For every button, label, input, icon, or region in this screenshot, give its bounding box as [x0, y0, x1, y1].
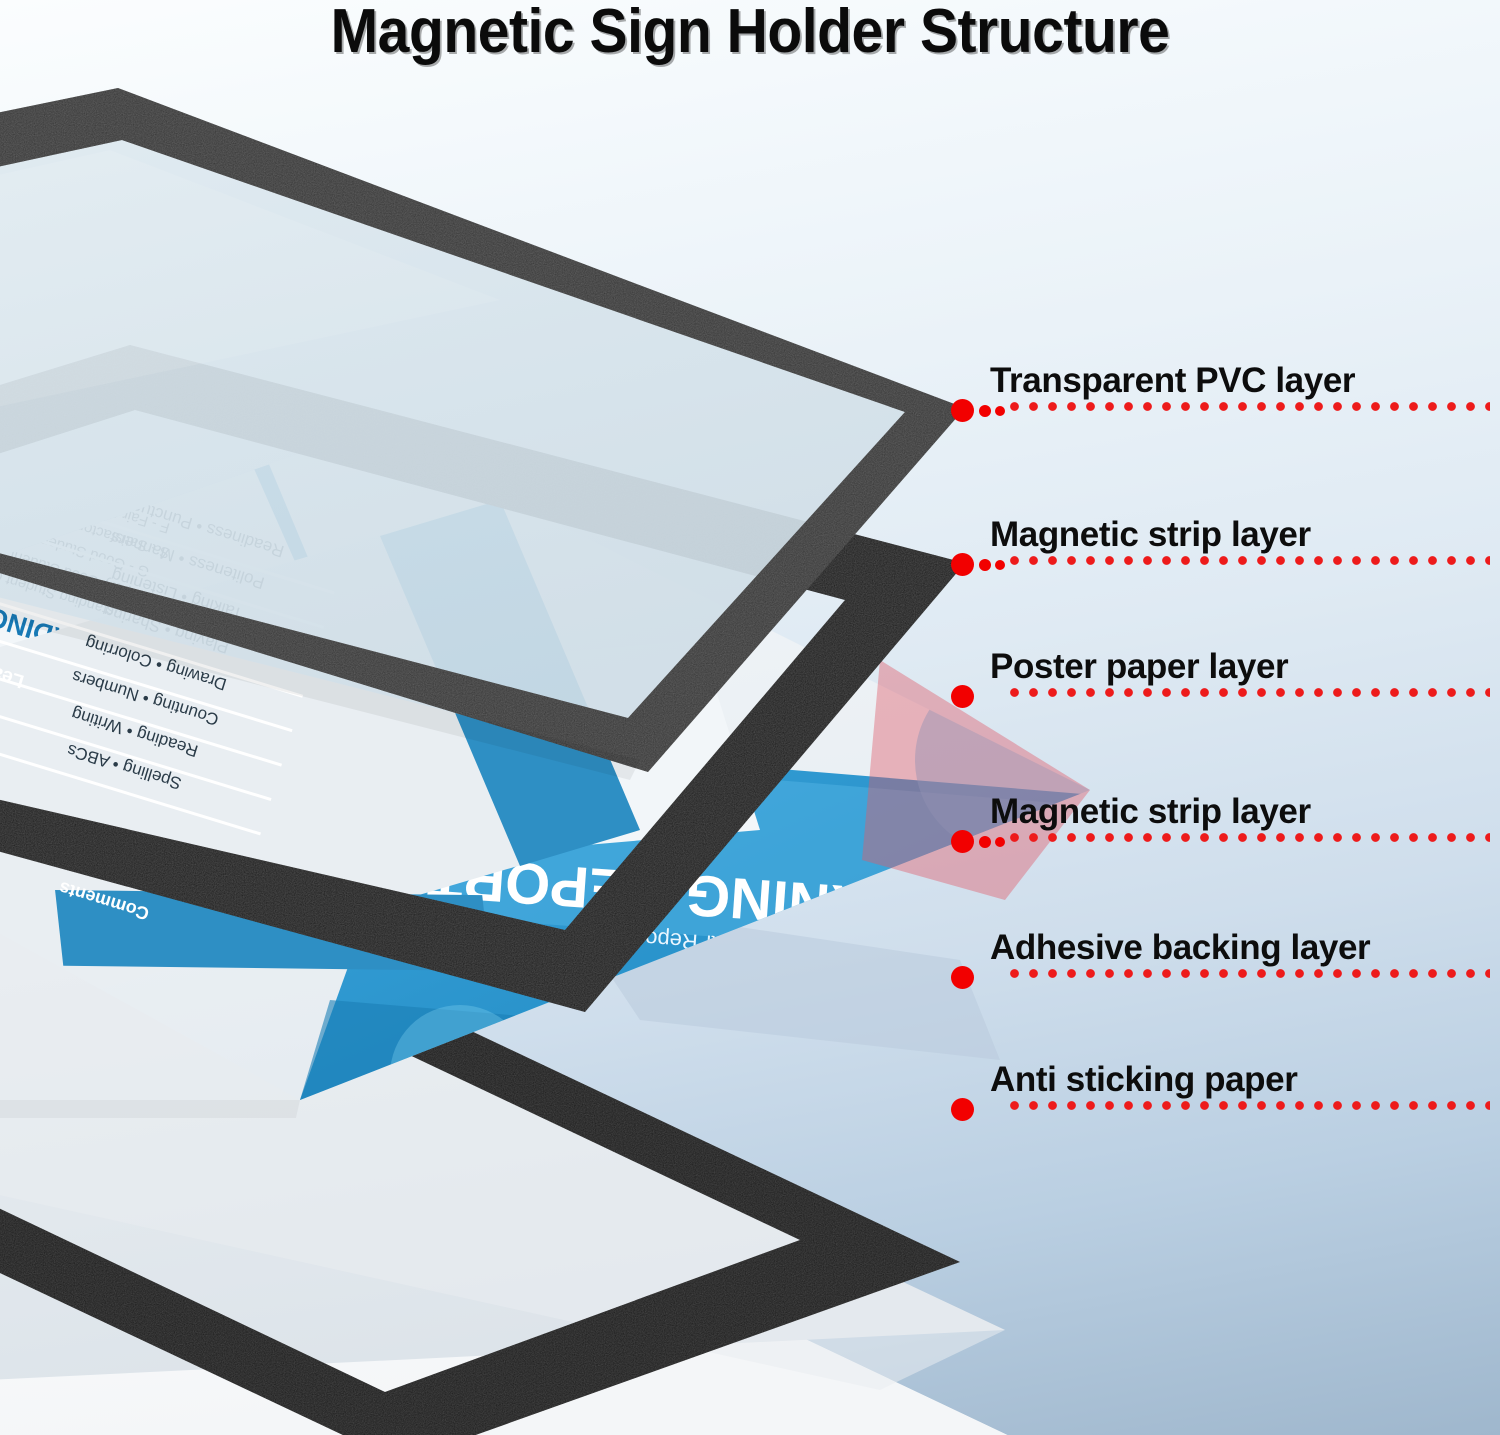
callout-dot-icon — [951, 553, 974, 576]
shadow-under-poster — [0, 1100, 300, 1118]
callout-transparent-pvc-layer: Transparent PVC layer — [965, 369, 1500, 411]
callout-dotted-leader — [1010, 1101, 1490, 1110]
callout-label: Magnetic strip layer — [990, 515, 1311, 555]
callout-dot-tiny-icon — [995, 560, 1005, 570]
callout-label: Adhesive backing layer — [990, 928, 1370, 968]
callout-dotted-leader — [1010, 833, 1490, 842]
exploded-layer-illustration: MY LEARNING REPORT School Year Report Ca… — [0, 0, 1500, 1435]
callout-magnetic-strip-layer-top: Magnetic strip layer — [965, 523, 1500, 565]
magnetic-sign-holder-structure-diagram: Magnetic Sign Holder Structure — [0, 0, 1500, 1435]
callout-dotted-leader — [1010, 688, 1490, 697]
callout-label: Poster paper layer — [990, 647, 1288, 687]
callout-dotted-leader — [1010, 402, 1490, 411]
callout-anti-sticking-paper: Anti sticking paper — [965, 1068, 1500, 1110]
callout-poster-paper-layer: Poster paper layer — [965, 655, 1500, 697]
callout-dot-icon — [951, 399, 974, 422]
callout-dot-tiny-icon — [995, 837, 1005, 847]
callout-dot-icon — [951, 685, 974, 708]
callout-dot-small-icon — [979, 559, 991, 571]
callout-dot-small-icon — [979, 836, 991, 848]
callout-adhesive-backing-layer: Adhesive backing layer — [965, 936, 1500, 978]
callout-magnetic-strip-layer-bottom: Magnetic strip layer — [965, 800, 1500, 842]
callout-dot-tiny-icon — [995, 406, 1005, 416]
callout-label: Transparent PVC layer — [990, 361, 1355, 401]
callout-dotted-leader — [1010, 556, 1490, 565]
callout-dotted-leader — [1010, 969, 1490, 978]
callout-dot-icon — [951, 1098, 974, 1121]
callout-label: Magnetic strip layer — [990, 792, 1311, 832]
callout-dot-icon — [951, 966, 974, 989]
callout-label: Anti sticking paper — [990, 1060, 1297, 1100]
callout-dot-small-icon — [979, 405, 991, 417]
callout-dot-icon — [951, 830, 974, 853]
